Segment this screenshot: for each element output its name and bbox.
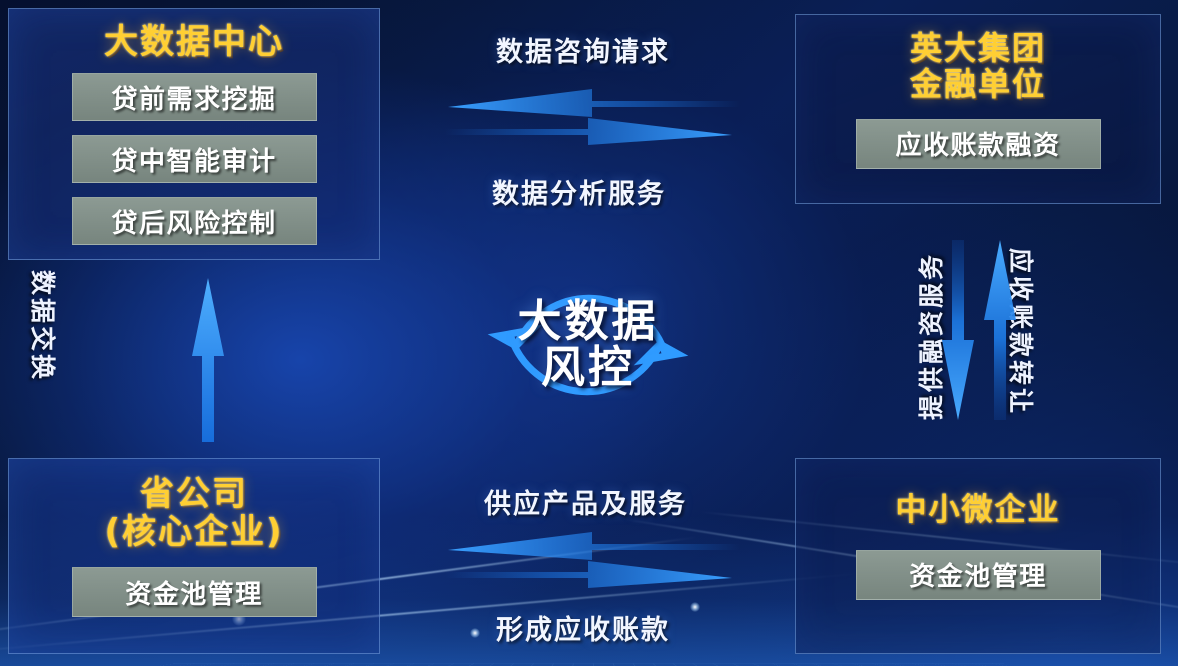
- panel-big-data-center[interactable]: 大数据中心 贷前需求挖掘 贷中智能审计 贷后风险控制: [8, 8, 380, 260]
- center-line-2: 风控: [541, 345, 635, 391]
- arrow-left-bottom: [448, 532, 740, 560]
- panel-sme-enterprises[interactable]: 中小微企业 资金池管理: [795, 458, 1161, 654]
- center-line-1: 大数据: [518, 299, 659, 345]
- panel-title-yingda-group: 英大集团 金融单位: [796, 31, 1160, 103]
- item-fund-pool-management-left[interactable]: 资金池管理: [72, 567, 317, 617]
- arrow-down-right-column: [938, 240, 978, 420]
- center-cycle-text: 大数据 风控: [470, 250, 706, 440]
- arrow-left-top: [448, 89, 740, 117]
- arrow-right-bottom: [445, 561, 732, 588]
- item-pre-loan-demand[interactable]: 贷前需求挖掘: [72, 73, 317, 121]
- arrow-up-left-column: [186, 278, 230, 442]
- item-in-loan-audit[interactable]: 贷中智能审计: [72, 135, 317, 183]
- infographic-canvas: 大数据中心 贷前需求挖掘 贷中智能审计 贷后风险控制 英大集团 金融单位 应收账…: [0, 0, 1178, 666]
- flow-label-supply-products-services: 供应产品及服务: [484, 482, 687, 521]
- panel-title-provincial-company: 省公司 (核心企业): [9, 475, 379, 551]
- panel-provincial-company[interactable]: 省公司 (核心企业) 资金池管理: [8, 458, 380, 654]
- panel-title-sme: 中小微企业: [796, 493, 1160, 528]
- item-fund-pool-management-right[interactable]: 资金池管理: [856, 550, 1101, 600]
- item-receivables-financing[interactable]: 应收账款融资: [856, 119, 1101, 169]
- double-horizontal-arrow-bottom: [440, 528, 740, 598]
- flow-label-data-exchange: 数据交换: [26, 270, 62, 382]
- panel-title-big-data-center: 大数据中心: [9, 23, 379, 61]
- flow-label-data-analysis-service: 数据分析服务: [492, 172, 666, 211]
- sparkle-dot: [690, 602, 700, 612]
- arrow-up-right-column: [980, 240, 1020, 420]
- panel-yingda-group-finance[interactable]: 英大集团 金融单位 应收账款融资: [795, 14, 1161, 204]
- center-cycle-badge[interactable]: 大数据 风控: [470, 250, 706, 440]
- item-post-loan-risk[interactable]: 贷后风险控制: [72, 197, 317, 245]
- arrow-right-top: [445, 118, 732, 145]
- flow-label-data-query-request: 数据咨询请求: [496, 30, 670, 69]
- flow-label-form-receivables: 形成应收账款: [496, 608, 670, 647]
- sparkle-dot: [470, 628, 480, 638]
- double-horizontal-arrow-top: [440, 85, 740, 155]
